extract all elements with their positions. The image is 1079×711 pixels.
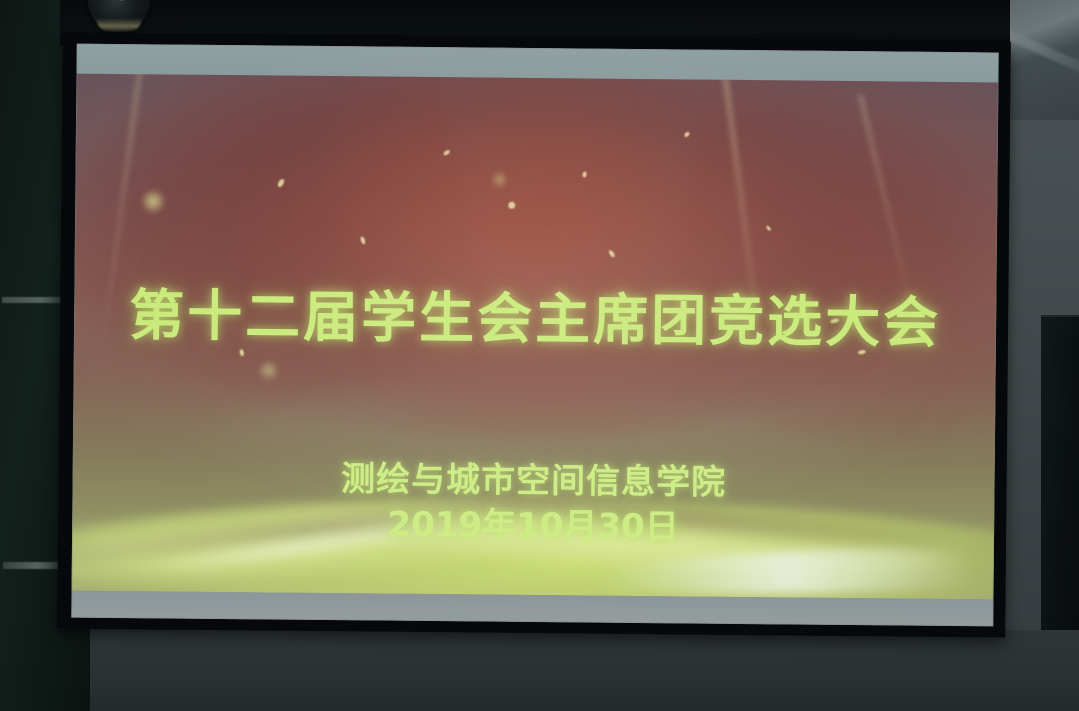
lower-wall: [0, 630, 1079, 711]
slide-title: 第十二届学生会主席团竞选大会: [74, 270, 997, 359]
classroom-scene: 第十二届学生会主席团竞选大会 测绘与城市空间信息学院 2019年10月30日: [0, 0, 1079, 711]
chalk-rail-upper: [2, 297, 65, 303]
projection-screen-surface: 第十二届学生会主席团竞选大会 测绘与城市空间信息学院 2019年10月30日: [71, 44, 998, 627]
chalk-rail-lower: [3, 562, 65, 569]
camera-rim: [96, 18, 142, 32]
projection-screen: 第十二届学生会主席团竞选大会 测绘与城市空间信息学院 2019年10月30日: [57, 32, 1011, 637]
slide-date: 2019年10月30日: [72, 494, 994, 552]
slide-canvas: 第十二届学生会主席团竞选大会 测绘与城市空间信息学院 2019年10月30日: [72, 74, 999, 600]
